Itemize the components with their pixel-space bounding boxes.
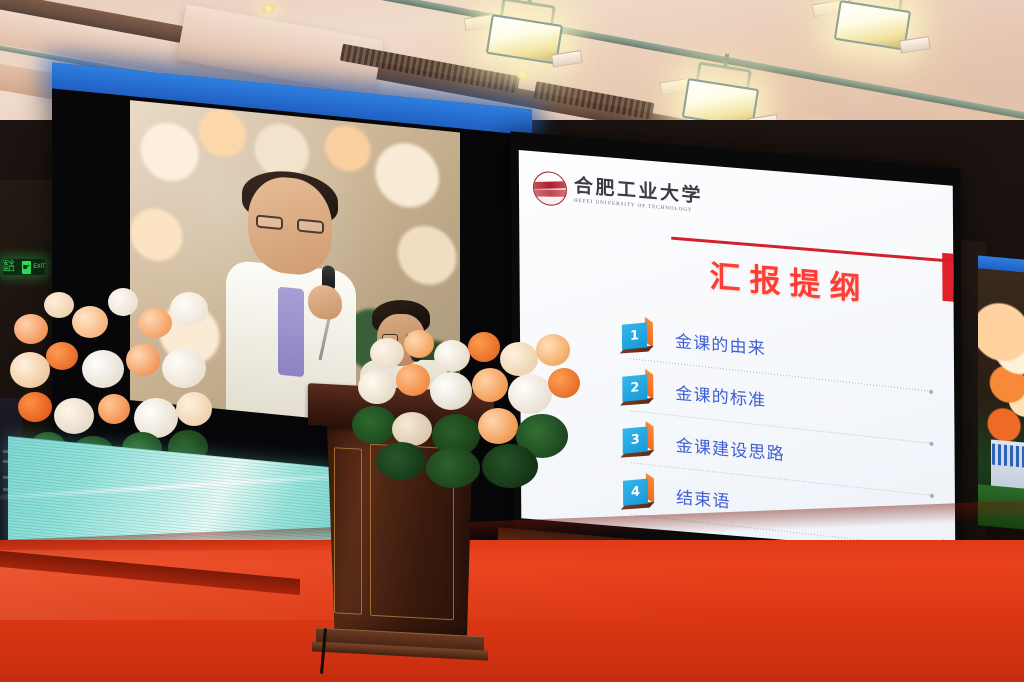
presenter-glasses [382, 334, 422, 343]
ceiling-downlight [262, 4, 275, 13]
agenda-item-label: 金课的由来 [675, 326, 766, 359]
university-crest-icon [533, 170, 567, 207]
agenda-item-number: 2 [622, 374, 647, 401]
number-cube-icon: 4 [623, 476, 654, 508]
stage-scene: 安全出口 ☛ EXIT [0, 0, 1024, 682]
number-cube-icon: 1 [622, 320, 653, 352]
agenda-item-number: 1 [622, 322, 647, 349]
slide-title: 汇报提纲 [639, 256, 939, 312]
presentation-slide: 合肥工业大学 HEFEI UNIVERSITY OF TECHNOLOGY 汇报… [519, 150, 956, 554]
agenda-item-label: 金课建设思路 [676, 430, 785, 464]
led-screen-surface [978, 268, 1024, 530]
agenda-item-number: 3 [623, 426, 648, 453]
exit-sign-cn-label: 安全出口 [3, 261, 20, 273]
exit-sign-en-label: EXIT [33, 264, 45, 270]
number-cube-icon: 3 [623, 424, 654, 456]
agenda-item-label: 结束语 [676, 482, 731, 512]
emergency-exit-sign: 安全出口 ☛ EXIT [2, 258, 46, 276]
stage-floor-sheen [0, 550, 1024, 620]
agenda-item-number: 4 [623, 478, 648, 505]
running-man-icon: ☛ [22, 261, 32, 274]
ceiling-downlight [516, 70, 529, 79]
stage-floor [0, 540, 1024, 682]
number-cube-icon: 2 [622, 372, 653, 404]
agenda-item-label: 金课的标准 [675, 378, 766, 411]
university-logo: 合肥工业大学 HEFEI UNIVERSITY OF TECHNOLOGY [533, 161, 713, 228]
wooden-lectern [300, 388, 500, 660]
right-led-panel [978, 255, 1024, 530]
main-projection-screen: 合肥工业大学 HEFEI UNIVERSITY OF TECHNOLOGY 汇报… [511, 131, 964, 568]
